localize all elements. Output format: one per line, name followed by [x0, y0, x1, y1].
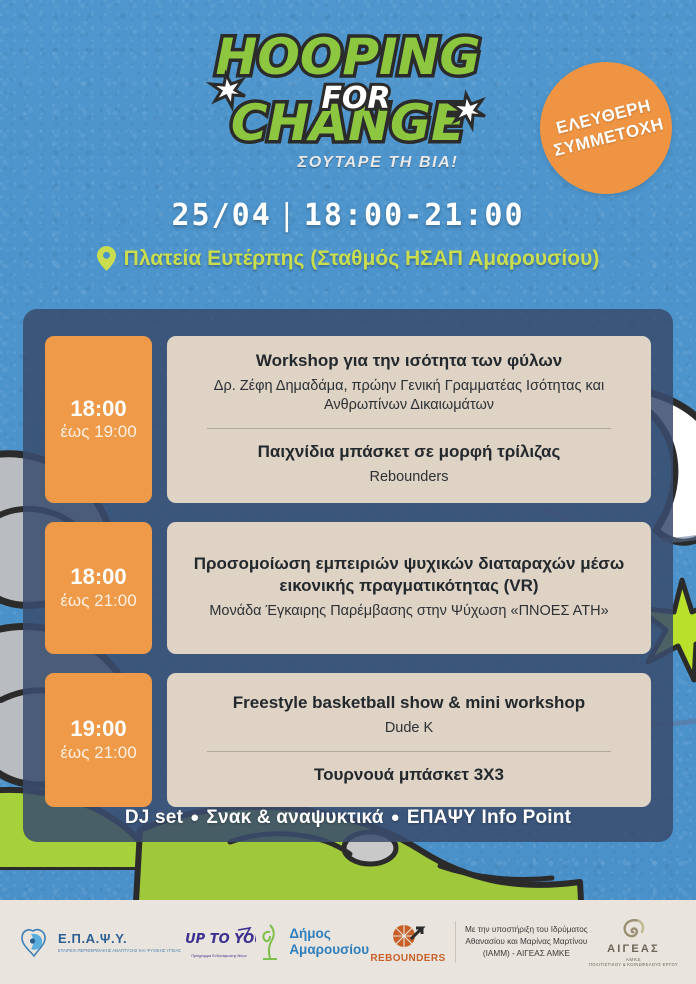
map-pin-icon: [97, 246, 116, 271]
schedule-row: 18:00 έως 19:00 Workshop για την ισότητα…: [45, 336, 651, 503]
epapsy-subtitle: ΕΤΑΙΡΕΙΑ ΠΕΡΙΦΕΡΕΙΑΚΗΣ ΑΝΑΠΤΥΞΗΣ ΚΑΙ ΨΥΧ…: [58, 948, 181, 953]
time-end: έως 21:00: [60, 742, 136, 764]
extras-footer: DJ set●Σνακ & αναψυκτικά●ΕΠΑΨΥ Info Poin…: [23, 807, 673, 829]
dimos-line1: Δήμος: [289, 926, 369, 942]
card-divider: [207, 428, 611, 429]
time-block: 19:00 έως 21:00: [45, 673, 152, 807]
youth-wordmark: IT'S UP TO YOUTH: [182, 932, 256, 947]
time-start: 18:00: [70, 564, 126, 589]
schedule-row: 19:00 έως 21:00 Freestyle basketball sho…: [45, 673, 651, 807]
event-date: 25/04: [171, 198, 271, 233]
time-start: 18:00: [70, 396, 126, 421]
support-line3: (ΙΑΜΜ) - ΑΙΓΕΑΣ ΑΜΚΕ: [465, 948, 588, 960]
logo-line2: FOR: [321, 81, 390, 116]
event-subtitle: Μονάδα Έγκαιρης Παρέμβασης στην Ψύχωση «…: [189, 602, 629, 621]
sponsor-epapsy: Ε.Π.Α.Ψ.Υ. ΕΤΑΙΡΕΙΑ ΠΕΡΙΦΕΡΕΙΑΚΗΣ ΑΝΑΠΤΥ…: [18, 925, 181, 959]
extra-snacks: Σνακ & αναψυκτικά: [206, 807, 383, 828]
sponsor-rebounders: REBOUNDERS: [370, 921, 445, 964]
dimos-amarousiou-logo-icon: [257, 922, 283, 962]
extra-info-point: ΕΠΑΨΥ Info Point: [407, 807, 571, 828]
time-end: έως 21:00: [60, 590, 136, 612]
sponsor-bar: Ε.Π.Α.Ψ.Υ. ΕΤΑΙΡΕΙΑ ΠΕΡΙΦΕΡΕΙΑΚΗΣ ΑΝΑΠΤΥ…: [0, 900, 696, 984]
schedule-card: Freestyle basketball show & mini worksho…: [167, 673, 651, 807]
support-line1: Με την υποστήριξη του Ιδρύματος: [465, 924, 588, 936]
free-participation-badge: ΕΛΕΥΘΕΡΗ ΣΥΜΜΕΤΟΧΗ: [540, 62, 672, 194]
epapsy-name: Ε.Π.Α.Ψ.Υ.: [58, 931, 181, 946]
time-end: έως 19:00: [60, 421, 136, 443]
event-datetime: 25/04|18:00-21:00: [0, 198, 696, 233]
event-subtitle: Dude K: [189, 719, 629, 738]
youth-subtitle: Πρόγραμμα Ενδυνάμωσης Νέων: [191, 954, 246, 959]
venue-label: Πλατεία Ευτέρπης (Σταθμός ΗΣΑΠ Αμαρουσίο…: [124, 247, 600, 271]
event-title: Προσομοίωση εμπειριών ψυχικών διαταραχών…: [189, 553, 629, 597]
logo-tagline: ΣΟΥΤΑΡΕ ΤΗ ΒΙΑ!: [298, 154, 459, 172]
extra-dj-set: DJ set: [125, 807, 183, 828]
aigeas-spiral-icon: [618, 917, 648, 943]
support-credit: Με την υποστήριξη του Ιδρύματος Αθανασίο…: [465, 924, 588, 960]
schedule-panel: 18:00 έως 19:00 Workshop για την ισότητα…: [23, 309, 673, 842]
event-subtitle: Rebounders: [189, 468, 629, 487]
support-line2: Αθανασίου και Μαρίνας Μαρτίνου: [465, 936, 588, 948]
epapsy-logo-icon: [18, 925, 52, 959]
sponsor-divider: [455, 921, 456, 963]
up-to-youth-logo-icon: IT'S UP TO YOUTH: [182, 926, 256, 952]
event-time-range: 18:00-21:00: [304, 198, 525, 233]
hooping-for-change-wordmark: HOOPING CHANGE FOR: [198, 22, 498, 152]
badge-text: ΕΛΕΥΘΕΡΗ ΣΥΜΜΕΤΟΧΗ: [546, 94, 665, 161]
sponsor-youth: IT'S UP TO YOUTH Πρόγραμμα Ενδυνάμωσης Ν…: [182, 926, 256, 959]
event-title: Τουρνουά μπάσκετ 3Χ3: [189, 764, 629, 786]
sponsor-aigeas: ΑΙΓΕΑΣ ΑΜΚΕ ΠΟΛΙΤΙΣΤΙΚΟΥ & ΚΟΙΝΩΦΕΛΟΥΣ Ε…: [589, 917, 678, 968]
event-title: Freestyle basketball show & mini worksho…: [189, 692, 629, 714]
logo-line1: HOOPING: [216, 28, 481, 86]
venue: Πλατεία Ευτέρπης (Σταθμός ΗΣΑΠ Αμαρουσίο…: [0, 246, 696, 271]
bullet-separator: ●: [384, 809, 407, 826]
sponsor-dimos-amarousiou: Δήμος Αμαρουσίου: [257, 922, 369, 962]
time-block: 18:00 έως 21:00: [45, 522, 152, 654]
aigeas-name: ΑΙΓΕΑΣ: [607, 943, 660, 955]
schedule-card: Προσομοίωση εμπειριών ψυχικών διαταραχών…: [167, 522, 651, 654]
datetime-separator: |: [272, 198, 304, 233]
time-block: 18:00 έως 19:00: [45, 336, 152, 503]
time-start: 19:00: [70, 716, 126, 741]
dimos-line2: Αμαρουσίου: [289, 942, 369, 958]
dimos-label: Δήμος Αμαρουσίου: [289, 926, 369, 958]
event-subtitle: Δρ. Ζέφη Δημαδάμα, πρώην Γενική Γραμματέ…: [189, 377, 629, 415]
event-title: Παιχνίδια μπάσκετ σε μορφή τρίλιζας: [189, 441, 629, 463]
card-divider: [207, 751, 611, 752]
event-title: Workshop για την ισότητα των φύλων: [189, 350, 629, 372]
aigeas-subtitle-2: ΠΟΛΙΤΙΣΤΙΚΟΥ & ΚΟΙΝΩΦΕΛΟΥΣ ΕΡΓΟΥ: [589, 962, 678, 968]
rebounders-logo-icon: [389, 921, 427, 951]
poster-root: HOOPING CHANGE FOR ΣΟΥΤΑΡΕ ΤΗ ΒΙΑ! ΕΛΕΥΘ…: [0, 0, 696, 984]
rebounders-name: REBOUNDERS: [370, 953, 445, 964]
bullet-separator: ●: [183, 809, 206, 826]
schedule-card: Workshop για την ισότητα των φύλων Δρ. Ζ…: [167, 336, 651, 503]
schedule-row: 18:00 έως 21:00 Προσομοίωση εμπειριών ψυ…: [45, 522, 651, 654]
